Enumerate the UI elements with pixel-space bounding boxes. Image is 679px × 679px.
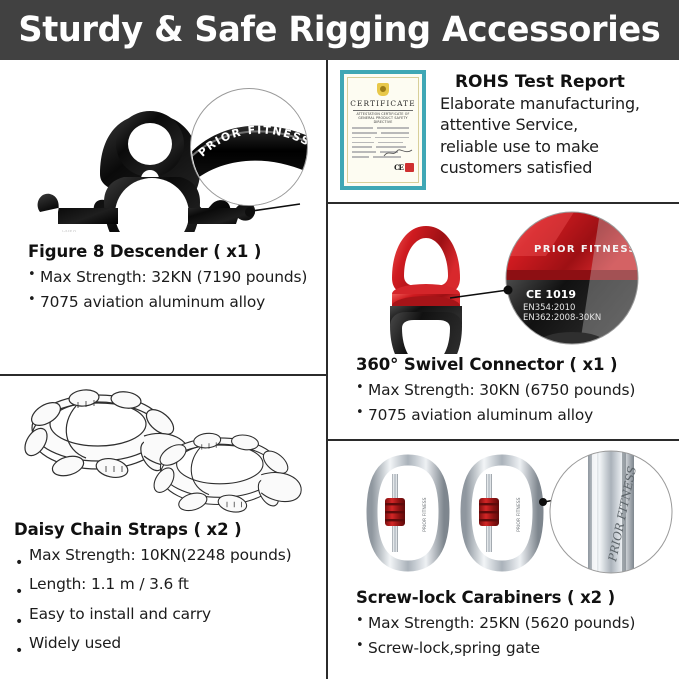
horizontal-divider-right-1 [326,202,679,204]
svg-text:CE 1019: CE 1019 [526,288,576,301]
swivel-bullet-list: Max Strength: 30KN (6750 pounds) 7075 av… [356,379,674,427]
carabiner-bullet-list: Max Strength: 25KN (5620 pounds) Screw-l… [356,612,674,660]
list-item: Max Strength: 30KN (6750 pounds) [356,379,674,401]
swivel-connector-image: CE 1019 PRIOR FITNESS CE 1019 EN354:2010… [330,206,679,354]
svg-text:PRIOR FITNESS: PRIOR FITNESS [516,497,522,532]
header-banner: Sturdy & Safe Rigging Accessories [0,0,679,60]
page-title: Sturdy & Safe Rigging Accessories [18,13,660,48]
leader-dot [504,286,513,295]
horizontal-divider-right-2 [326,439,679,441]
certificate-logo-icon [405,163,414,172]
certificate-signature-icon [383,146,413,158]
swivel-title: 360° Swivel Connector ( x1 ) [356,355,674,374]
swivel-magnifier: PRIOR FITNESS CE 1019 EN354:2010 EN362:2… [506,212,638,354]
list-item: Widely used [14,632,326,654]
daisy-chain-text-block: Daisy Chain Straps ( x2 ) Max Strength: … [14,520,326,661]
svg-text:PRIOR FITNESS: PRIOR FITNESS [422,497,428,532]
list-item: Max Strength: 25KN (5620 pounds) [356,612,674,634]
leader-dot [539,498,547,506]
svg-text:PRIOR FITNESS: PRIOR FITNESS [534,244,637,255]
ce-mark-label: CE [394,163,403,172]
daisy-chain-svg [0,378,326,518]
list-item: Max Strength: 10KN(2248 pounds) [14,544,326,566]
vertical-divider-main [326,60,328,679]
figure-8-title: Figure 8 Descender ( x1 ) [28,242,320,261]
carabiner-title: Screw-lock Carabiners ( x2 ) [356,588,674,607]
list-item: Screw-lock,spring gate [356,637,674,659]
leader-dot [245,207,255,217]
list-item: Length: 1.1 m / 3.6 ft [14,573,326,595]
list-item: 7075 aviation aluminum alloy [28,291,320,313]
list-item: Max Strength: 32KN (7190 pounds) [28,266,320,288]
screw-lock-carabiners-image: PRIOR FITNESS PRIOR FITNESS [330,444,679,584]
horizontal-divider-left [0,374,328,376]
carabiner-text-block: Screw-lock Carabiners ( x2 ) Max Strengt… [356,588,674,663]
certificate-subtitle: ATTESTATION CERTIFICATE OF GENERAL PRODU… [352,112,414,124]
daisy-chain-bullet-list: Max Strength: 10KN(2248 pounds) Length: … [14,544,326,654]
daisy-chain-straps-image [0,378,326,518]
carabiners-svg: PRIOR FITNESS PRIOR FITNESS [330,444,679,584]
daisy-chain-title: Daisy Chain Straps ( x2 ) [14,520,326,539]
rohs-body-text: Elaborate manufacturing, attentive Servi… [440,93,640,179]
list-item: 7075 aviation aluminum alloy [356,404,674,426]
carabiner-magnifier: PRIOR FITNESS [550,451,672,573]
certificate-heading: CERTIFICATE [350,99,415,108]
certificate-image: CERTIFICATE ATTESTATION CERTIFICATE OF G… [340,70,426,190]
rohs-title: ROHS Test Report [440,72,640,92]
svg-text:kN50: kN50 [62,230,77,232]
swivel-text-block: 360° Swivel Connector ( x1 ) Max Strengt… [356,355,674,430]
figure-8-bullet-list: Max Strength: 32KN (7190 pounds) 7075 av… [28,266,320,314]
list-item: Easy to install and carry [14,603,326,625]
infographic-page: Sturdy & Safe Rigging Accessories [0,0,679,679]
certificate-seal-icon [377,83,389,96]
figure-8-text-block: Figure 8 Descender ( x1 ) Max Strength: … [28,242,320,317]
rohs-panel: CERTIFICATE ATTESTATION CERTIFICATE OF G… [340,70,670,190]
swivel-connector-svg: CE 1019 PRIOR FITNESS CE 1019 EN354:2010… [330,206,679,354]
svg-text:EN362:2008-30KN: EN362:2008-30KN [523,313,601,323]
figure-8-magnifier: PRIOR FITNESS kN50 [190,88,308,206]
svg-text:EN354:2010: EN354:2010 [523,303,575,313]
